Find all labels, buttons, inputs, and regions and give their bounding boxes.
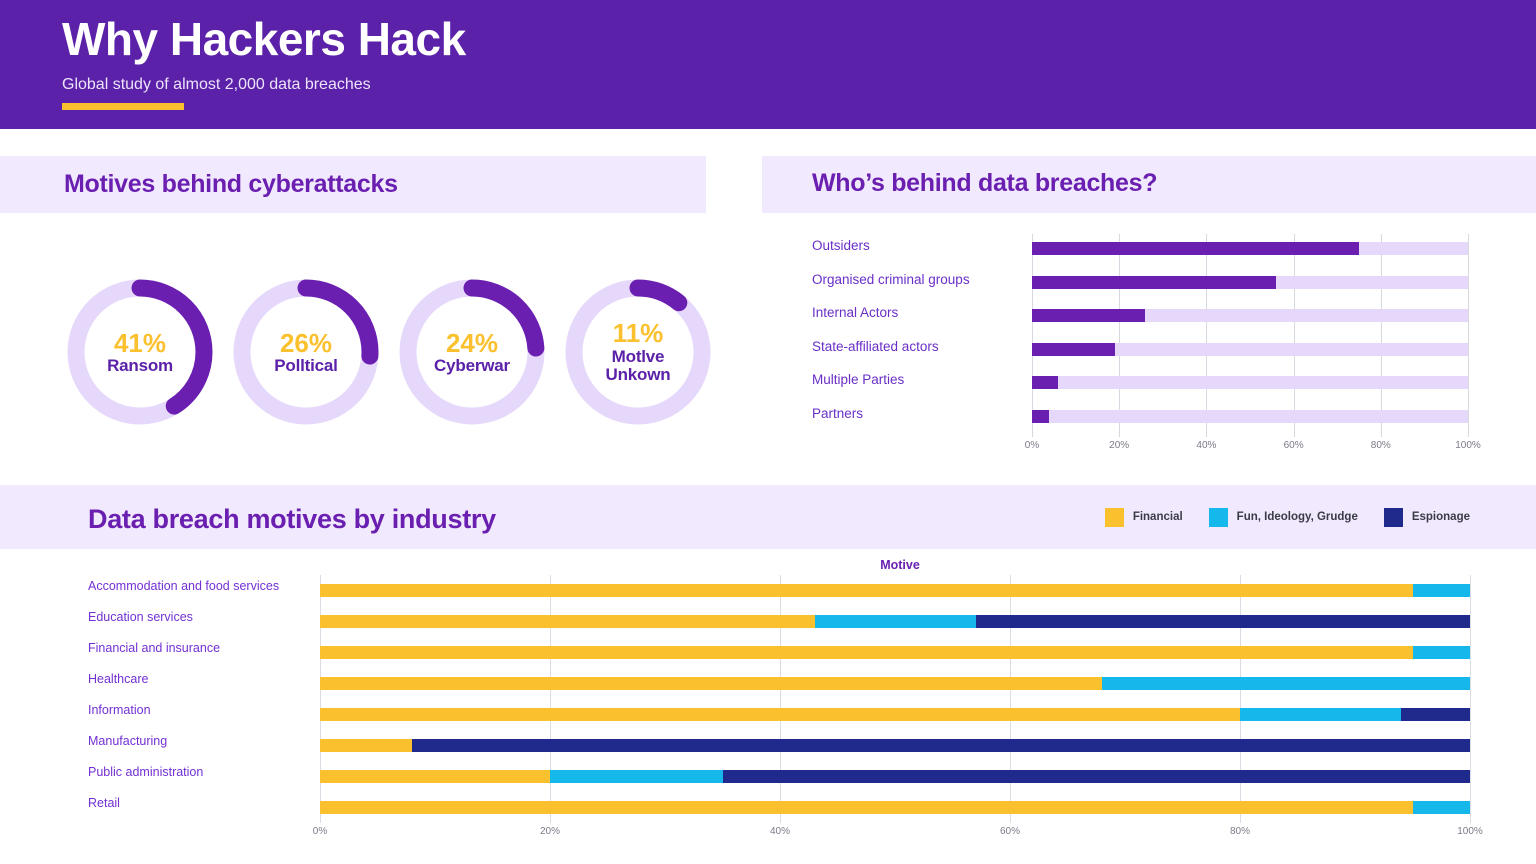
page-header: Why Hackers Hack Global study of almost … [0,0,1536,129]
industry-bar-segment [723,770,1471,783]
industry-bar-segment [320,584,1413,597]
donut-percent: 24% [446,329,498,358]
industry-chart-row-label: Manufacturing [88,734,303,748]
x-tick-label: 80% [1230,826,1250,837]
who-chart-bar [1032,242,1359,255]
who-chart-bar [1032,276,1276,289]
x-tick-label: 40% [1196,440,1216,451]
industry-bar-segment [320,615,815,628]
who-chart-bar-track [1032,242,1468,255]
donut-polltical: 26%Polltical [226,266,386,438]
x-tick-label: 0% [313,826,327,837]
industry-bar-segment [815,615,976,628]
x-tick-label: 20% [540,826,560,837]
who-chart-x-axis: 0%20%40%60%80%100% [1032,440,1468,460]
who-behind-breaches-chart: 0%20%40%60%80%100% OutsidersOrganised cr… [800,234,1500,469]
who-chart-bar [1032,410,1049,423]
donut-percent: 41% [114,329,166,358]
industry-stacked-bar [320,739,1470,752]
who-chart-bar [1032,376,1058,389]
industry-bar-segment [1413,646,1471,659]
industry-bar-segment [320,739,412,752]
industry-bar-segment [1413,801,1471,814]
header-accent-rule [62,103,184,110]
who-chart-row: Outsiders [800,234,1500,262]
motive-axis-annotation: Motive [320,558,1480,572]
industry-stacked-bar [320,801,1470,814]
donut-text: 11%MotlveUnkown [558,266,718,438]
legend-label: Fun, Ideology, Grudge [1237,511,1358,523]
industry-bar-segment [412,739,1470,752]
industry-bar-segment [1413,584,1471,597]
motives-section-title: Motives behind cyberattacks [64,170,398,199]
legend-swatch [1105,508,1124,527]
who-chart-row-label: Internal Actors [812,305,898,320]
who-chart-bar-track [1032,309,1468,322]
who-chart-row: Multiple Parties [800,368,1500,396]
industry-stacked-bar [320,646,1470,659]
who-chart-row: Organised criminal groups [800,268,1500,296]
industry-chart-row-label: Public administration [88,765,303,779]
industry-chart-row-label: Education services [88,610,303,624]
x-tick-label: 100% [1455,440,1481,451]
page-subtitle: Global study of almost 2,000 data breach… [62,76,371,94]
who-chart-row: Partners [800,402,1500,430]
who-chart-bar-track [1032,376,1468,389]
donut-label: Polltical [274,357,337,375]
who-chart-bar-track [1032,276,1468,289]
donut-chart-group: 41%Ransom26%Polltical24%Cyberwar11%Motlv… [60,266,720,438]
x-tick-label: 80% [1371,440,1391,451]
donut-label: MotlveUnkown [606,348,671,385]
industry-stacked-bar [320,708,1470,721]
donut-label: Cyberwar [434,357,510,375]
industry-bar-segment [320,677,1102,690]
industry-stacked-bar [320,584,1470,597]
industry-chart-row-label: Financial and insurance [88,641,303,655]
donut-motlve-unkown: 11%MotlveUnkown [558,266,718,438]
who-chart-row-label: Outsiders [812,238,870,253]
industry-chart-x-axis: 0%20%40%60%80%100% [320,826,1470,844]
donut-label: Ransom [107,357,173,375]
who-chart-row-label: Organised criminal groups [812,272,970,287]
industry-stacked-bar [320,615,1470,628]
x-tick-label: 0% [1025,440,1039,451]
donut-percent: 26% [280,329,332,358]
industry-chart-row [320,730,1470,761]
x-tick-label: 40% [770,826,790,837]
who-chart-bar [1032,309,1145,322]
industry-bar-segment [320,708,1240,721]
who-chart-bar [1032,343,1115,356]
industry-motives-chart: Motive 0%20%40%60%80%100% Accommodation … [88,558,1480,848]
industry-stacked-bar [320,770,1470,783]
industry-bar-segment [976,615,1471,628]
legend-label: Espionage [1412,511,1470,523]
x-tick-label: 60% [1284,440,1304,451]
donut-ransom: 41%Ransom [60,266,220,438]
gridline [1470,575,1471,823]
donut-text: 41%Ransom [60,266,220,438]
donut-cyberwar: 24%Cyberwar [392,266,552,438]
donut-text: 24%Cyberwar [392,266,552,438]
industry-chart-row [320,668,1470,699]
industry-chart-row [320,792,1470,823]
industry-chart-row-label: Retail [88,796,303,810]
legend-swatch [1384,508,1403,527]
legend-label: Financial [1133,511,1183,523]
industry-bar-segment [320,801,1413,814]
industry-bar-segment [1401,708,1470,721]
who-chart-bar-track [1032,410,1468,423]
x-tick-label: 100% [1457,826,1483,837]
industry-stacked-bar [320,677,1470,690]
who-chart-row-label: State-affiliated actors [812,339,939,354]
motive-legend: FinancialFun, Ideology, GrudgeEspionage [1105,507,1470,527]
who-chart-row-label: Multiple Parties [812,372,904,387]
donut-text: 26%Polltical [226,266,386,438]
industry-bar-segment [550,770,723,783]
page-title: Why Hackers Hack [62,14,466,65]
industry-bar-segment [1102,677,1470,690]
who-chart-row-label: Partners [812,406,863,421]
who-chart-row: State-affiliated actors [800,335,1500,363]
industry-chart-row [320,761,1470,792]
legend-item: Fun, Ideology, Grudge [1209,508,1358,527]
who-section-title: Who’s behind data breaches? [812,169,1157,198]
industry-chart-row-label: Healthcare [88,672,303,686]
industry-bar-segment [320,646,1413,659]
legend-item: Espionage [1384,508,1470,527]
donut-percent: 11% [613,319,664,348]
industry-chart-row [320,575,1470,606]
industry-chart-row-label: Information [88,703,303,717]
x-tick-label: 20% [1109,440,1129,451]
legend-item: Financial [1105,508,1183,527]
industry-chart-row [320,637,1470,668]
industry-bar-segment [320,770,550,783]
who-chart-row: Internal Actors [800,301,1500,329]
who-chart-bar-track [1032,343,1468,356]
industry-chart-row-label: Accommodation and food services [88,579,303,593]
industry-chart-plot [320,575,1470,823]
legend-swatch [1209,508,1228,527]
x-tick-label: 60% [1000,826,1020,837]
industry-chart-row [320,606,1470,637]
industry-section-title: Data breach motives by industry [88,504,496,535]
industry-bar-segment [1240,708,1401,721]
industry-chart-row [320,699,1470,730]
